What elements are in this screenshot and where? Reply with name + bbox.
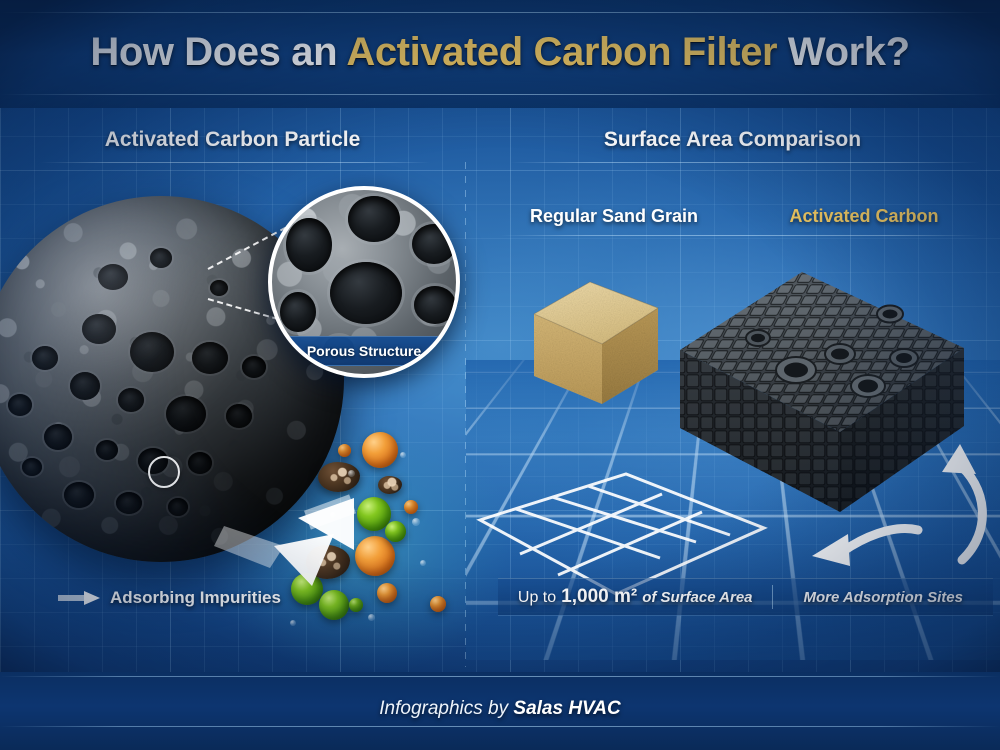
stat-suffix: of Surface Area: [642, 589, 752, 606]
carbon-pore: [226, 404, 252, 428]
carbon-pore: [210, 280, 228, 296]
impurity-particle-debris: [378, 476, 402, 494]
activated-carbon-label: Activated Carbon: [744, 206, 984, 227]
impurity-particle-green: [385, 521, 406, 542]
carbon-pore: [192, 342, 228, 374]
carbon-pore: [242, 356, 266, 378]
bubble: [420, 560, 426, 566]
title-segment-highlight: Activated Carbon Filter: [346, 30, 777, 74]
pore-zoom-marker: [148, 456, 180, 488]
arrow-right-icon: [58, 591, 100, 605]
carbon-pore: [32, 346, 58, 370]
page-title: How Does an Activated Carbon Filter Work…: [0, 30, 1000, 75]
adsorbing-impurities-row: Adsorbing Impurities: [58, 588, 281, 608]
carbon-pore: [168, 498, 188, 516]
magnifier-label: Porous Structure: [272, 336, 456, 366]
stat-suffix: More Adsorption Sites: [803, 589, 962, 606]
footer-credit: Infographics by Salas HVAC: [0, 698, 1000, 720]
carbon-pore: [150, 248, 172, 268]
magnifier-pore: [286, 218, 332, 272]
bubble: [290, 620, 296, 626]
footer-prefix: Infographics by: [379, 698, 513, 719]
bubble: [400, 452, 406, 458]
impurity-particle-orange: [377, 583, 397, 603]
carbon-pore: [188, 452, 212, 474]
impurity-particle-orange: [430, 596, 446, 612]
carbon-pore: [118, 388, 144, 412]
bubble: [412, 518, 420, 526]
carbon-pore: [70, 372, 100, 400]
right-heading-underline: [510, 162, 980, 163]
header-rule-bottom: [0, 94, 1000, 95]
left-heading-underline: [40, 162, 430, 163]
magnifier-pore: [348, 196, 400, 242]
impurity-particle-debris: [318, 462, 360, 492]
stat-prefix: Up to: [518, 589, 556, 607]
footer-rule-bottom: [0, 726, 1000, 727]
title-segment-2: Work?: [777, 30, 909, 74]
impurity-particle-orange: [362, 432, 398, 468]
carbon-pore: [44, 424, 72, 450]
carbon-pore: [130, 332, 174, 372]
carbon-pore: [64, 482, 94, 508]
impurity-particle-orange: [338, 444, 351, 457]
magnifier-pore: [330, 262, 402, 324]
carbon-pore: [98, 264, 128, 290]
regular-sand-grain-cube: [528, 278, 664, 408]
left-panel-heading: Activated Carbon Particle: [0, 128, 465, 152]
header-rule-top: [0, 12, 1000, 13]
magnifier-pore: [280, 292, 316, 332]
infographic-canvas: How Does an Activated Carbon Filter Work…: [0, 0, 1000, 750]
title-segment-1: How Does an: [90, 30, 346, 74]
footer-rule-top: [0, 676, 1000, 677]
bubble: [368, 614, 375, 621]
carbon-pore: [96, 440, 118, 460]
right-panel-heading: Surface Area Comparison: [465, 128, 1000, 152]
bubble: [348, 470, 355, 477]
carbon-pore: [166, 396, 206, 432]
sub-label-underline: [500, 235, 980, 236]
porous-structure-magnifier[interactable]: Porous Structure: [268, 186, 460, 378]
impurity-particle-green: [349, 598, 363, 612]
surface-area-stats-bar: Up to 1,000 m² of Surface Area More Adso…: [498, 578, 993, 616]
panel-divider: [465, 162, 466, 667]
stat-adsorption-sites: More Adsorption Sites: [773, 589, 993, 606]
magnifier-pore: [412, 224, 456, 264]
stat-surface-area: Up to 1,000 m² of Surface Area: [498, 586, 772, 608]
carbon-pore: [22, 458, 42, 476]
surface-area-pointer-arrow: [806, 516, 926, 578]
carbon-pore: [116, 492, 142, 514]
stat-value: 1,000 m²: [561, 586, 637, 608]
footer-brand: Salas HVAC: [513, 698, 620, 719]
carbon-pore: [8, 394, 32, 416]
magnifier-pore: [414, 286, 456, 324]
sand-grain-label: Regular Sand Grain: [502, 206, 726, 227]
impurity-particle-orange: [404, 500, 418, 514]
adsorbing-impurities-label: Adsorbing Impurities: [110, 588, 281, 608]
carbon-pore: [82, 314, 116, 344]
